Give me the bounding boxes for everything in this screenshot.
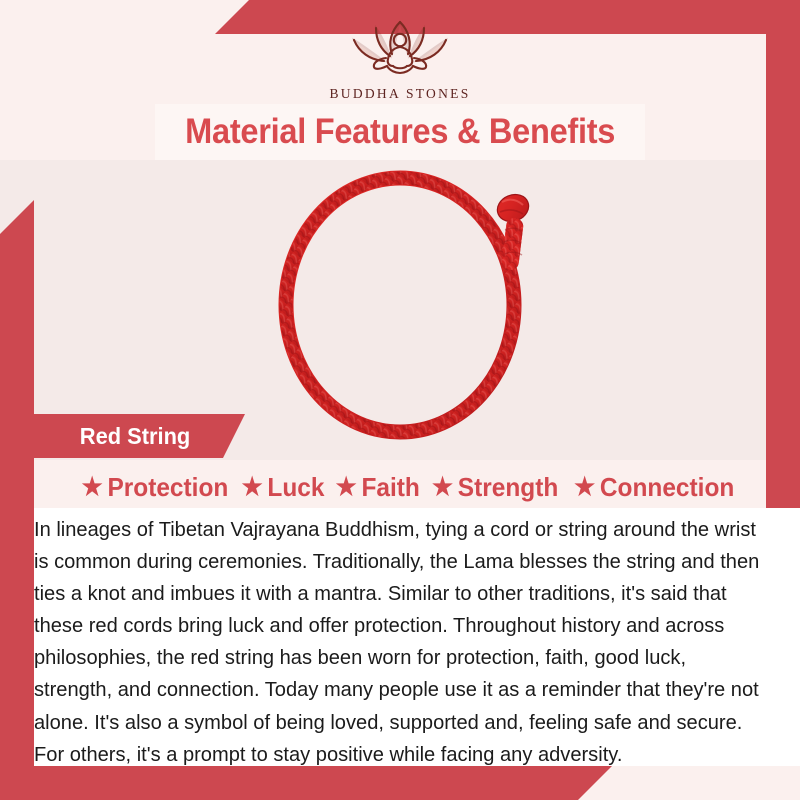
benefit-item: ★ Strength bbox=[432, 472, 558, 503]
star-icon: ★ bbox=[336, 475, 357, 500]
lotus-meditation-icon bbox=[330, 14, 470, 82]
infographic-card: BUDDHA STONES Material Features & Benefi… bbox=[0, 0, 800, 800]
product-label: Red String bbox=[38, 423, 190, 450]
star-icon: ★ bbox=[574, 475, 595, 500]
brand-name: BUDDHA STONES bbox=[329, 86, 470, 102]
benefit-label: Strength bbox=[458, 472, 558, 503]
page-title: Material Features & Benefits bbox=[185, 112, 615, 152]
benefit-label: Protection bbox=[107, 472, 228, 503]
benefit-item: ★ Faith bbox=[336, 472, 420, 503]
benefit-item: ★ Connection bbox=[574, 472, 734, 503]
star-icon: ★ bbox=[81, 475, 102, 500]
star-icon: ★ bbox=[432, 475, 453, 500]
title-banner: Material Features & Benefits bbox=[155, 104, 645, 160]
benefit-item: ★ Luck bbox=[241, 472, 324, 503]
benefit-label: Faith bbox=[361, 472, 419, 503]
description-panel: In lineages of Tibetan Vajrayana Buddhis… bbox=[34, 508, 800, 766]
benefit-label: Luck bbox=[267, 472, 324, 503]
frame-band-left bbox=[0, 200, 34, 800]
product-label-ribbon: Red String bbox=[34, 414, 245, 458]
benefits-row: ★ Protection ★ Luck ★ Faith ★ Strength ★… bbox=[34, 466, 782, 508]
star-icon: ★ bbox=[241, 475, 262, 500]
description-text: In lineages of Tibetan Vajrayana Buddhis… bbox=[34, 514, 767, 771]
benefit-item: ★ Protection bbox=[81, 472, 228, 503]
brand-logo: BUDDHA STONES bbox=[0, 14, 800, 102]
benefit-label: Connection bbox=[600, 472, 734, 503]
frame-band-bottom bbox=[0, 766, 612, 800]
